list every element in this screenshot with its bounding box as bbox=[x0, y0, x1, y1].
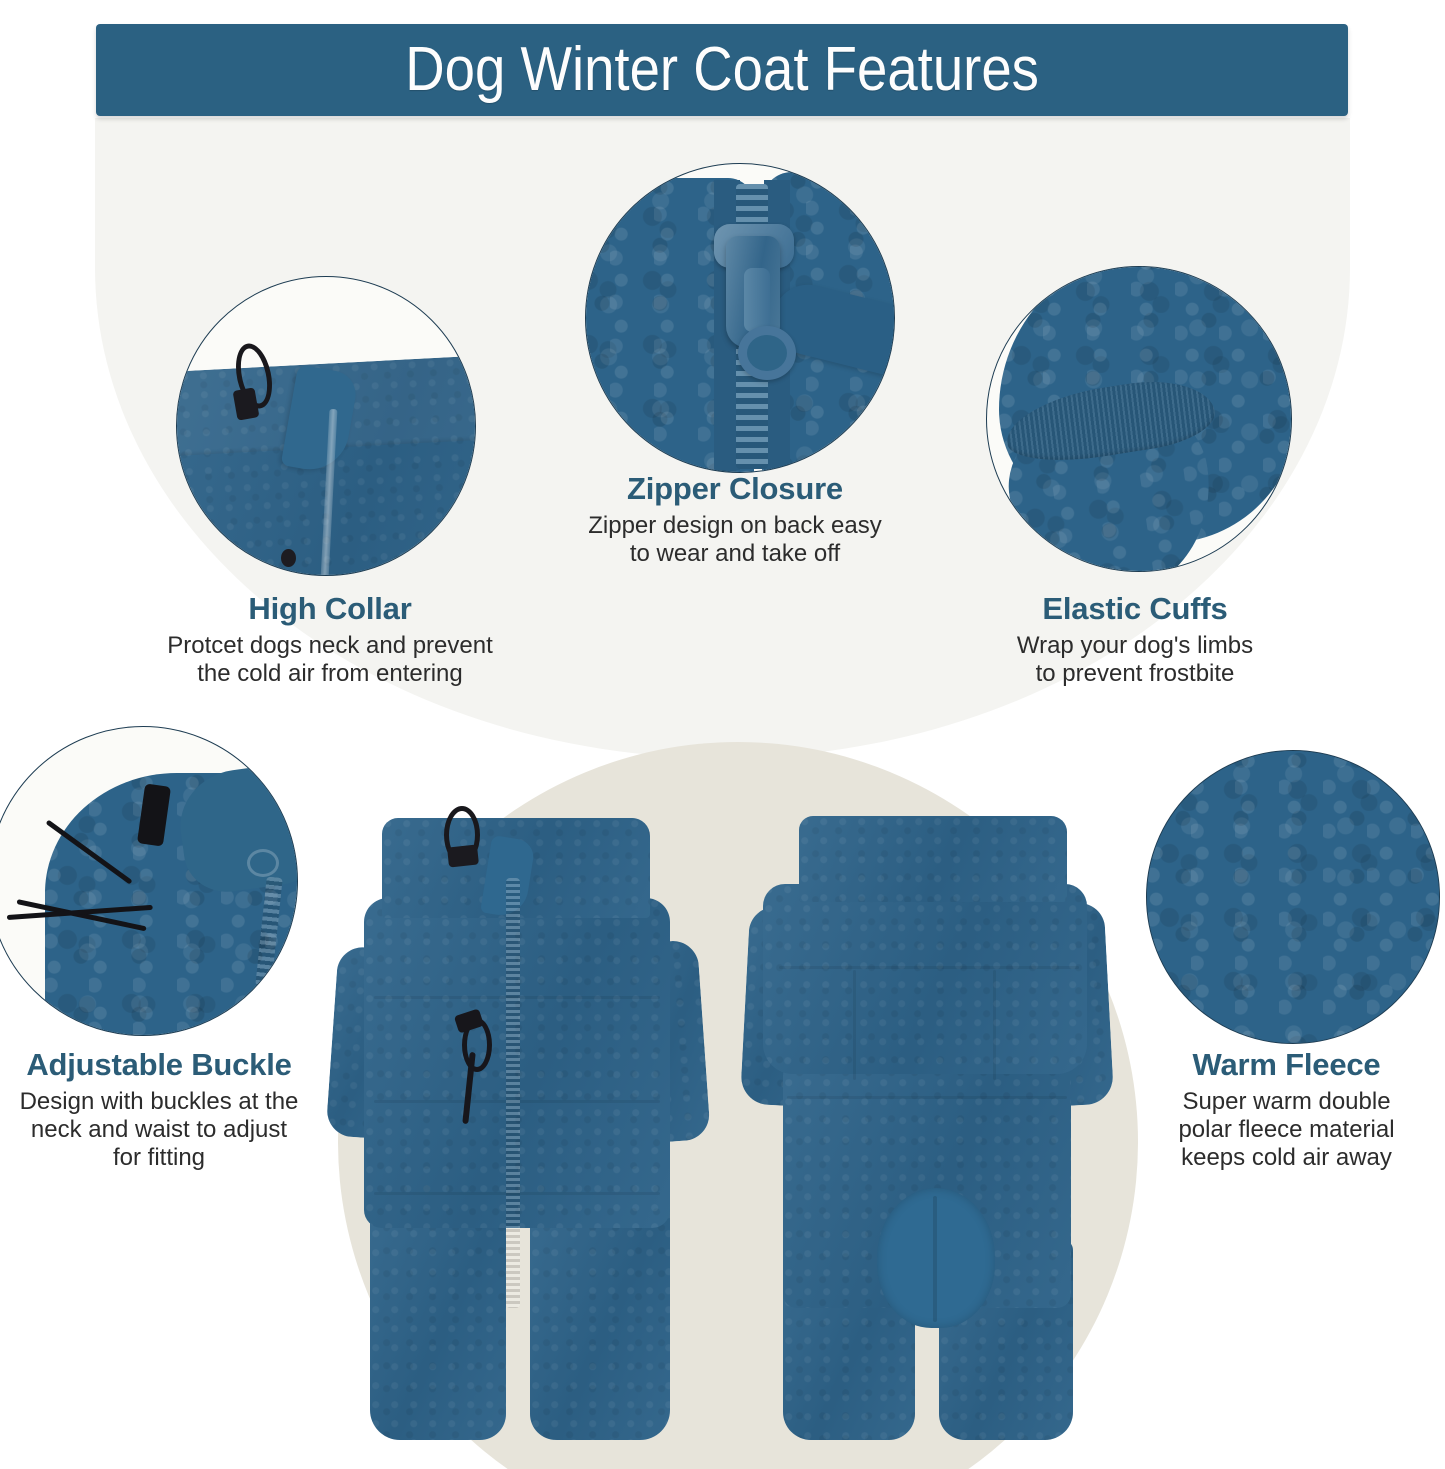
feature-photo-adjustable-buckle bbox=[0, 726, 298, 1036]
feature-desc-adjustable-buckle-line3: for fitting bbox=[0, 1144, 318, 1172]
feature-desc-high-collar-line1: Protcet dogs neck and prevent bbox=[100, 632, 560, 660]
back-tail-seam bbox=[933, 1196, 937, 1322]
feature-title-high-collar: High Collar bbox=[100, 592, 560, 626]
feature-desc-zipper-closure-line1: Zipper design on back easy bbox=[520, 512, 950, 540]
back-shoulder-panel bbox=[763, 884, 1087, 1074]
buckle-loop bbox=[247, 849, 279, 877]
high-collar-photo bbox=[177, 277, 475, 575]
feature-photo-high-collar bbox=[176, 276, 476, 576]
feature-title-warm-fleece: Warm Fleece bbox=[1128, 1048, 1445, 1082]
feature-caption-adjustable-buckle: Adjustable Buckle Design with buckles at… bbox=[0, 1048, 318, 1172]
feature-desc-zipper-closure-line2: to wear and take off bbox=[520, 540, 950, 568]
feature-title-adjustable-buckle: Adjustable Buckle bbox=[0, 1048, 318, 1082]
infographic-page: Dog Winter Coat Features bbox=[0, 0, 1445, 1469]
product-photo-back-view bbox=[725, 800, 1125, 1450]
back-vertical-seam-right bbox=[993, 970, 996, 1080]
page-title: Dog Winter Coat Features bbox=[405, 39, 1039, 101]
back-seam-shoulder bbox=[779, 966, 1079, 969]
product-photo-front-view bbox=[320, 800, 720, 1450]
zipper-pull-ring bbox=[738, 326, 796, 380]
collar-snap-button bbox=[281, 549, 296, 567]
feature-caption-zipper-closure: Zipper Closure Zipper design on back eas… bbox=[520, 472, 950, 568]
feature-desc-adjustable-buckle-line1: Design with buckles at the bbox=[0, 1088, 318, 1116]
back-seam-waist bbox=[787, 1096, 1067, 1099]
elastic-cuff-photo bbox=[987, 267, 1291, 571]
front-cord-toggle-icon bbox=[447, 844, 479, 867]
feature-caption-high-collar: High Collar Protcet dogs neck and preven… bbox=[100, 592, 560, 688]
adjustable-buckle-photo bbox=[0, 727, 297, 1035]
feature-photo-elastic-cuffs bbox=[986, 266, 1292, 572]
fleece-texture-photo bbox=[1147, 751, 1439, 1043]
back-collar bbox=[799, 816, 1067, 902]
feature-caption-warm-fleece: Warm Fleece Super warm double polar flee… bbox=[1128, 1048, 1445, 1172]
feature-desc-high-collar-line2: the cold air from entering bbox=[100, 660, 560, 688]
zipper-pull-stem bbox=[744, 268, 770, 332]
feature-photo-warm-fleece bbox=[1146, 750, 1440, 1044]
feature-desc-warm-fleece-line3: keeps cold air away bbox=[1128, 1144, 1445, 1172]
feature-desc-elastic-cuffs-line2: to prevent frostbite bbox=[935, 660, 1335, 688]
feature-title-elastic-cuffs: Elastic Cuffs bbox=[935, 592, 1335, 626]
feature-photo-zipper-closure bbox=[585, 163, 895, 473]
feature-caption-elastic-cuffs: Elastic Cuffs Wrap your dog's limbs to p… bbox=[935, 592, 1335, 688]
back-vertical-seam-left bbox=[853, 970, 856, 1080]
feature-desc-adjustable-buckle-line2: neck and waist to adjust bbox=[0, 1116, 318, 1144]
feature-desc-warm-fleece-line1: Super warm double bbox=[1128, 1088, 1445, 1116]
front-zipper bbox=[506, 878, 520, 1308]
zipper-photo bbox=[586, 164, 894, 472]
feature-desc-elastic-cuffs-line1: Wrap your dog's limbs bbox=[935, 632, 1335, 660]
feature-desc-warm-fleece-line2: polar fleece material bbox=[1128, 1116, 1445, 1144]
title-banner: Dog Winter Coat Features bbox=[96, 24, 1348, 116]
feature-title-zipper-closure: Zipper Closure bbox=[520, 472, 950, 506]
